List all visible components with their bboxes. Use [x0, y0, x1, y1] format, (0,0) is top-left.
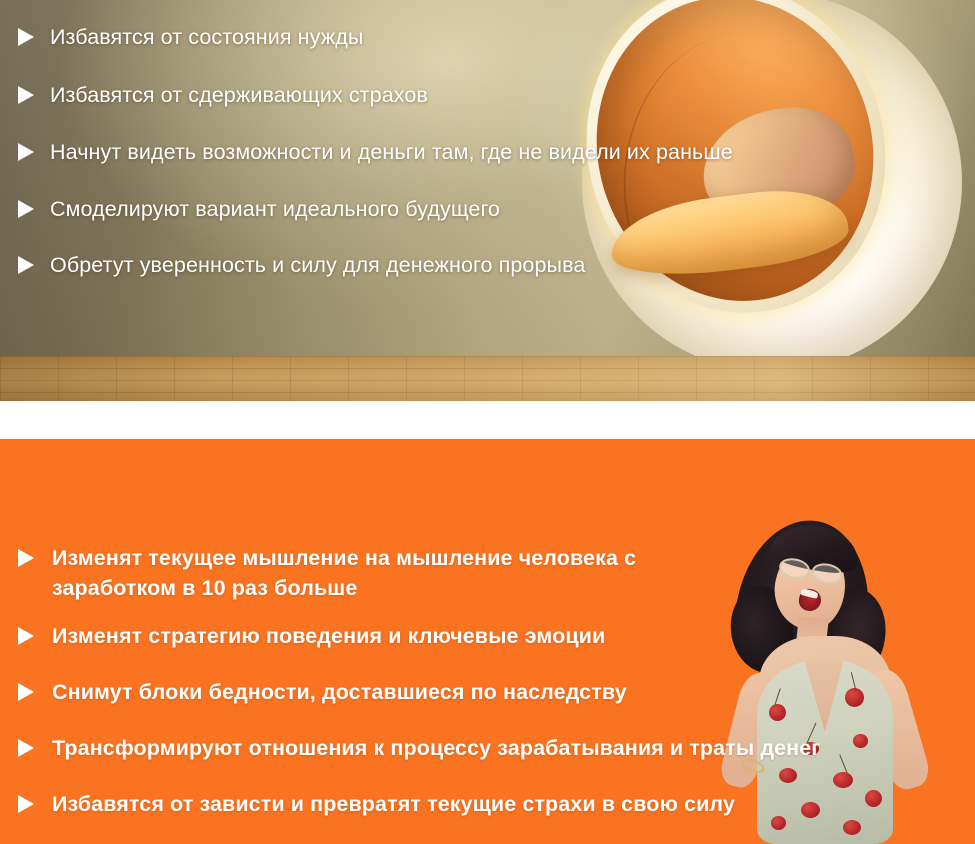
cherry-motif — [845, 688, 864, 707]
list-item: Начнут видеть возможности и деньги там, … — [18, 137, 918, 167]
triangle-right-icon — [18, 28, 34, 46]
list-item: Избавятся от сдерживающих страхов — [18, 80, 858, 110]
list-item: Трансформируют отношения к процессу зара… — [18, 733, 898, 763]
wood-floor-shading — [0, 356, 975, 401]
triangle-right-icon — [18, 627, 34, 645]
list-item: Изменят текущее мышление на мышление чел… — [18, 543, 678, 603]
cherry-motif — [865, 790, 882, 807]
top-photo-panel: Избавятся от состояния нужды Избавятся о… — [0, 0, 975, 401]
list-item-label: Смоделируют вариант идеального будущего — [50, 194, 500, 224]
list-item-label: Обретут уверенность и силу для денежного… — [50, 250, 585, 280]
list-item: Обретут уверенность и силу для денежного… — [18, 250, 858, 280]
list-item-label: Изменят текущее мышление на мышление чел… — [18, 543, 678, 603]
slide-page: Избавятся от состояния нужды Избавятся о… — [0, 0, 975, 844]
list-item-label: Избавятся от сдерживающих страхов — [50, 80, 428, 110]
list-item: Избавятся от состояния нужды — [18, 22, 858, 52]
list-item: Смоделируют вариант идеального будущего — [18, 194, 858, 224]
triangle-right-icon — [18, 795, 34, 813]
cherry-motif — [843, 820, 861, 835]
ball-chair-illustration — [552, 0, 975, 382]
triangle-right-icon — [18, 256, 34, 274]
triangle-right-icon — [18, 739, 34, 757]
dress-neckline — [803, 660, 845, 732]
cherry-motif — [779, 768, 797, 783]
triangle-right-icon — [18, 200, 34, 218]
list-item: Снимут блоки бедности, доставшиеся по на… — [18, 677, 778, 707]
list-item: Избавятся от зависти и превратят текущие… — [18, 789, 818, 819]
list-item-label: Изменят стратегию поведения и ключевые э… — [52, 621, 605, 651]
triangle-right-icon — [18, 683, 34, 701]
list-item: Изменят стратегию поведения и ключевые э… — [18, 621, 778, 651]
bottom-photo-panel: Изменят текущее мышление на мышление чел… — [0, 439, 975, 844]
list-item-label: Трансформируют отношения к процессу зара… — [52, 733, 820, 763]
list-item-label: Избавятся от зависти и превратят текущие… — [52, 789, 735, 819]
cherry-motif — [833, 772, 853, 788]
triangle-right-icon — [18, 143, 34, 161]
list-item-label: Начнут видеть возможности и деньги там, … — [50, 137, 733, 167]
list-item-label: Снимут блоки бедности, доставшиеся по на… — [52, 677, 627, 707]
triangle-right-icon — [18, 86, 34, 104]
list-item-label: Избавятся от состояния нужды — [50, 22, 363, 52]
section-divider — [0, 401, 975, 439]
